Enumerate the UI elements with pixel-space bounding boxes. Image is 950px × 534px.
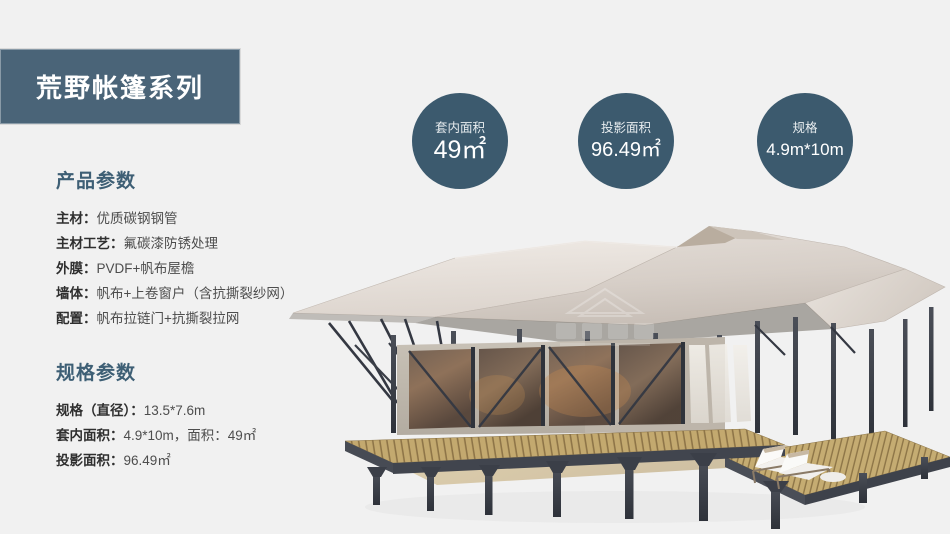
param-row: 外膜：PVDF+帆布屋檐: [56, 256, 293, 281]
param-row: 主材工艺：氟碳漆防锈处理: [56, 231, 293, 256]
param-row: 主材：优质碳钢钢管: [56, 206, 293, 231]
stat-label: 规格: [792, 121, 817, 136]
param-label: 主材：: [56, 211, 97, 226]
stat-value: 96.49㎡: [591, 138, 661, 162]
param-label: 主材工艺：: [56, 236, 124, 251]
title-banner: 荒野帐篷系列: [0, 48, 241, 125]
param-value: 13.5*7.6m: [144, 403, 206, 418]
product-render-image: [285, 195, 950, 534]
page-title: 荒野帐篷系列: [36, 68, 204, 105]
stat-circle-dimensions: 规格 4.9m*10m: [757, 93, 853, 189]
param-label: 配置：: [56, 311, 97, 326]
param-value: 氟碳漆防锈处理: [124, 236, 219, 251]
param-row: 配置：帆布拉链门+抗撕裂拉网: [56, 306, 293, 331]
param-label: 投影面积：: [56, 453, 124, 468]
param-label: 墙体：: [56, 286, 97, 301]
param-row: 墙体：帆布+上卷窗户（含抗撕裂纱网）: [56, 281, 293, 306]
stat-label: 投影面积: [601, 121, 651, 136]
param-value: 帆布+上卷窗户（含抗撕裂纱网）: [97, 286, 294, 301]
param-value: 96.49㎡: [124, 453, 171, 468]
param-label: 规格（直径）：: [56, 403, 144, 418]
product-parameters-heading: 产品参数: [56, 166, 293, 193]
stat-circle-projected-area: 投影面积 96.49㎡: [578, 93, 674, 189]
param-row: 套内面积：4.9*10m，面积：49㎡: [56, 423, 256, 448]
param-row: 规格（直径）：13.5*7.6m: [56, 398, 256, 423]
param-value: PVDF+帆布屋檐: [97, 261, 195, 276]
stat-label: 套内面积: [435, 121, 485, 136]
param-value: 4.9*10m，面积：49㎡: [124, 428, 257, 443]
param-value: 帆布拉链门+抗撕裂拉网: [97, 311, 240, 326]
param-label: 套内面积：: [56, 428, 124, 443]
product-parameters-section: 产品参数 主材：优质碳钢钢管 主材工艺：氟碳漆防锈处理 外膜：PVDF+帆布屋檐…: [56, 166, 293, 331]
stat-value: 4.9m*10m: [766, 138, 843, 162]
param-value: 优质碳钢钢管: [97, 211, 178, 226]
curtains: [689, 344, 751, 423]
spec-parameters-heading: 规格参数: [56, 358, 256, 385]
spec-parameters-section: 规格参数 规格（直径）：13.5*7.6m 套内面积：4.9*10m，面积：49…: [56, 358, 256, 473]
page-root: 荒野帐篷系列 产品参数 主材：优质碳钢钢管 主材工艺：氟碳漆防锈处理 外膜：PV…: [0, 0, 950, 534]
stat-value: 49㎡: [434, 138, 487, 162]
param-label: 外膜：: [56, 261, 97, 276]
stat-circle-interior-area: 套内面积 49㎡: [412, 93, 508, 189]
param-row: 投影面积：96.49㎡: [56, 448, 256, 473]
